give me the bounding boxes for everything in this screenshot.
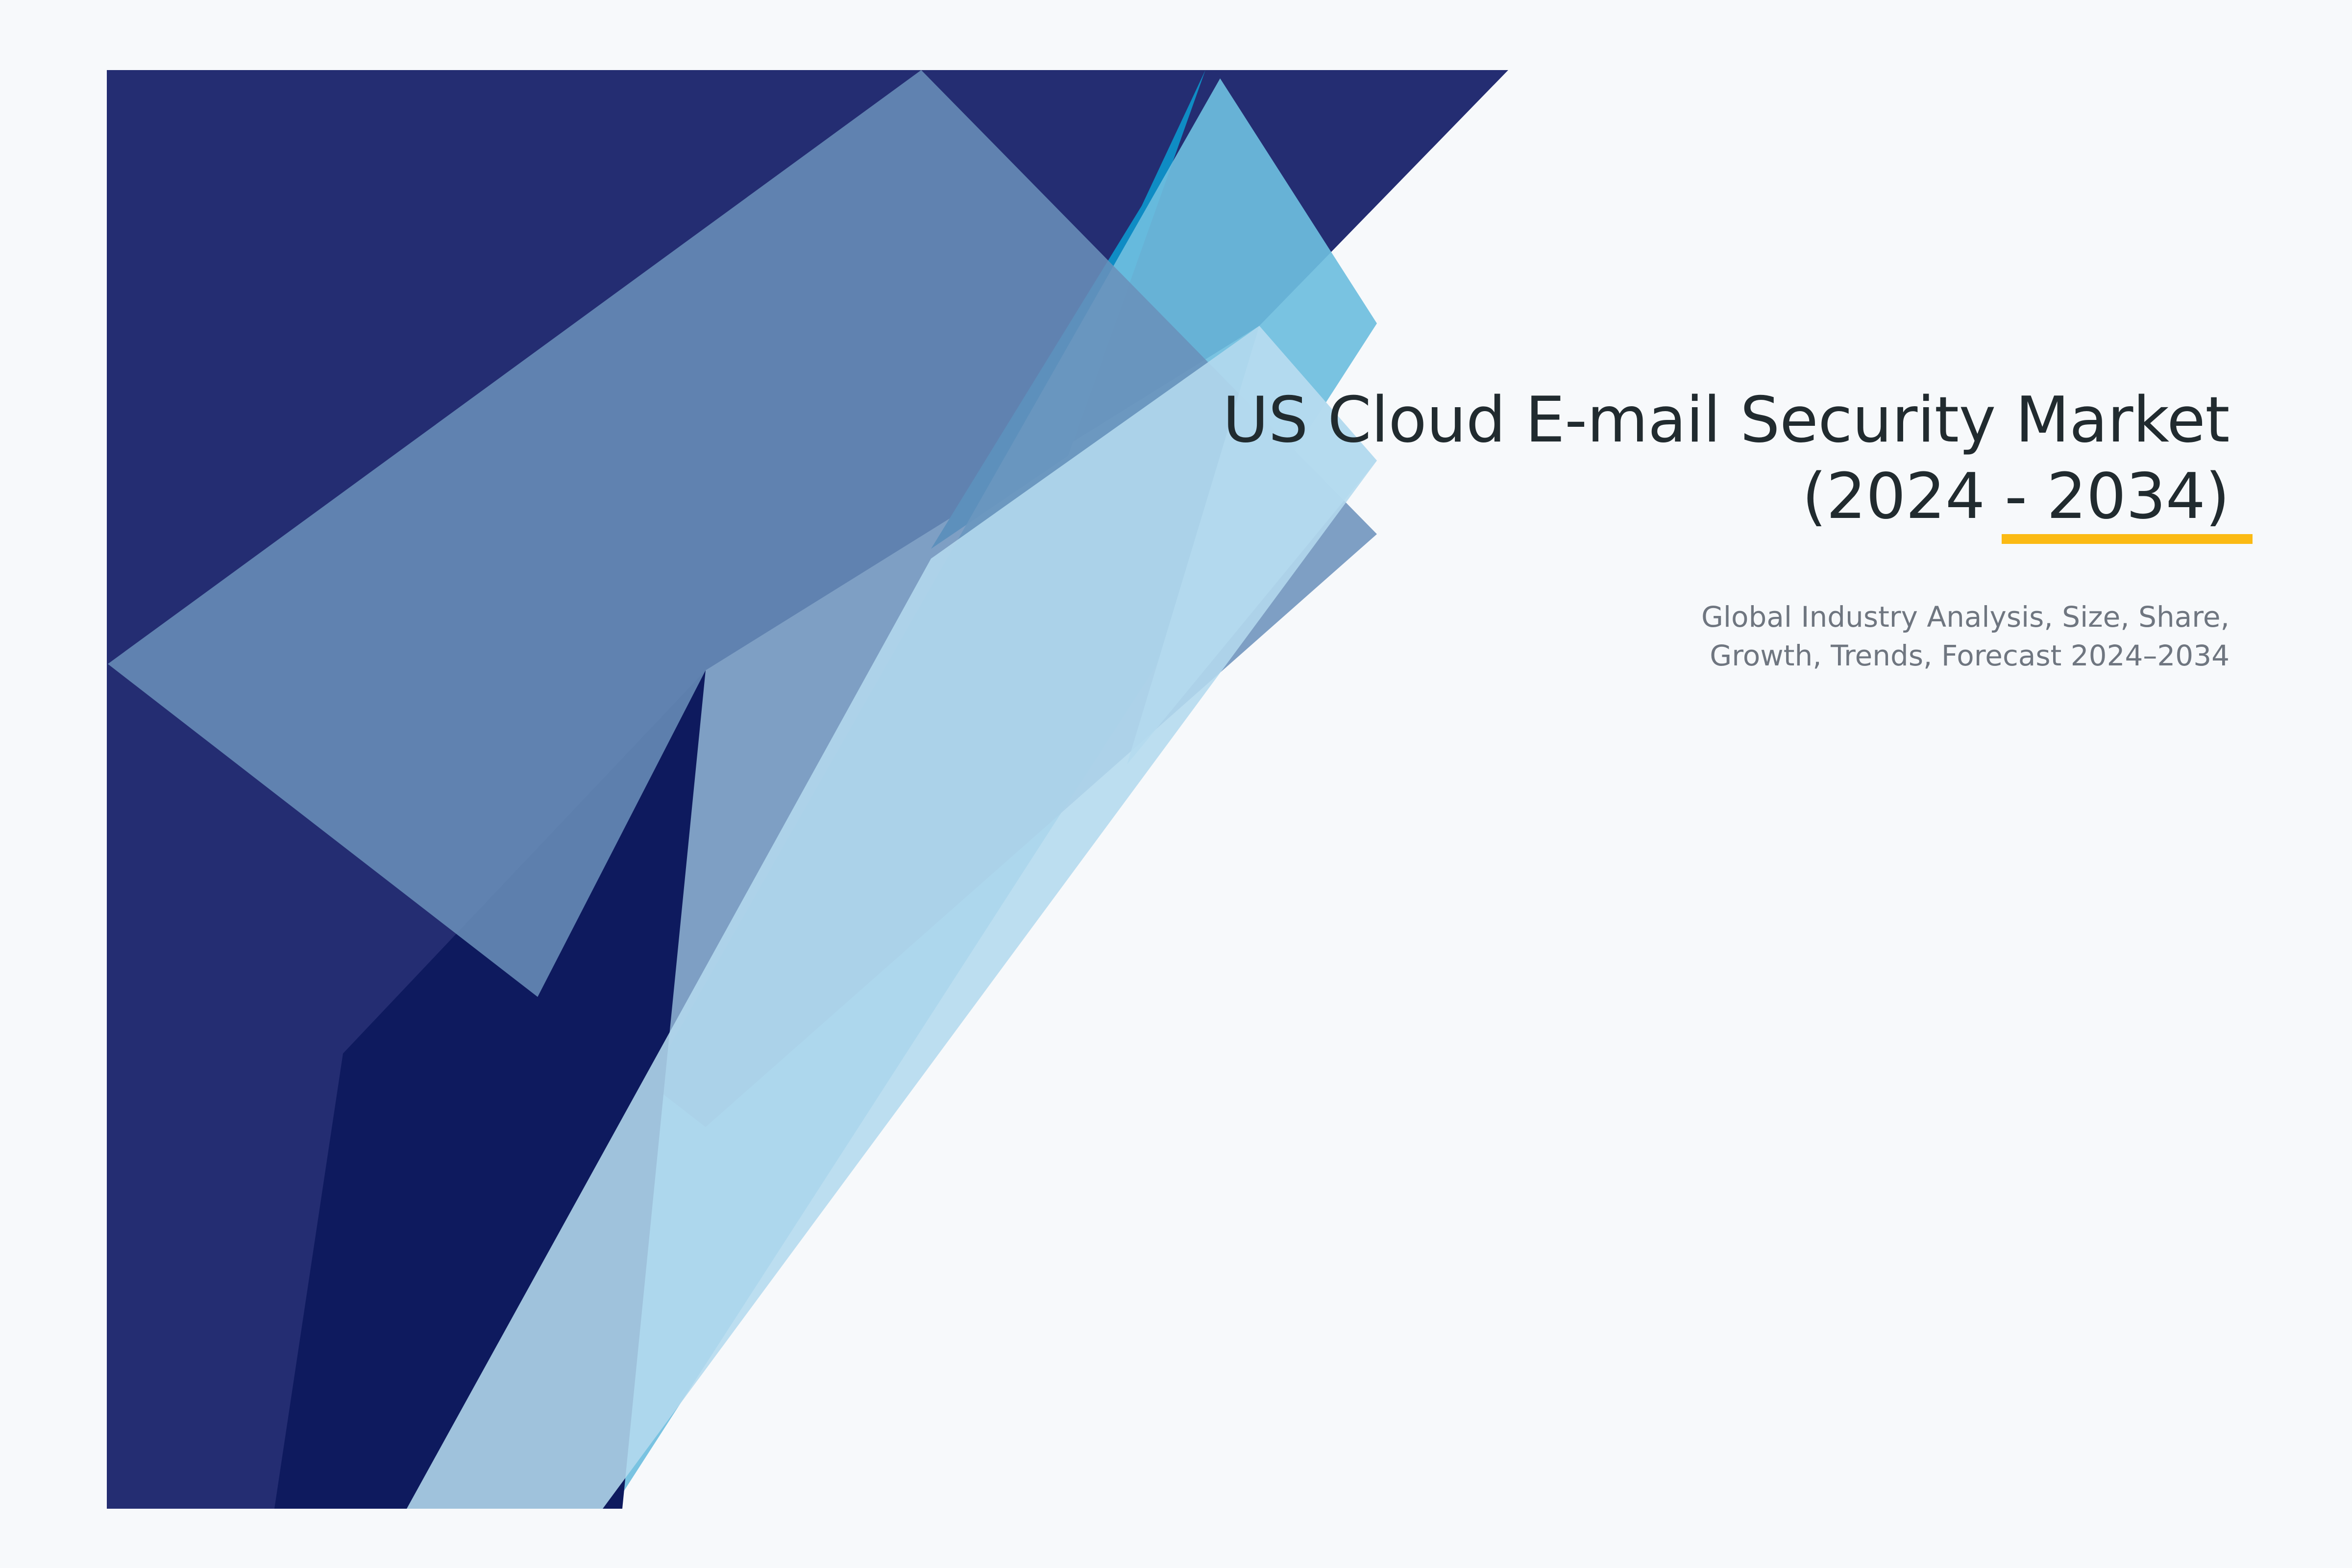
abstract-geometric-artwork [0,0,2352,1568]
accent-underline [2002,534,2253,544]
page-subtitle: Global Industry Analysis, Size, Share, G… [1019,535,2229,675]
cover-text-block: US Cloud E-mail Security Market (2024 - … [1019,382,2229,675]
report-cover: US Cloud E-mail Security Market (2024 - … [0,0,2352,1568]
page-title: US Cloud E-mail Security Market (2024 - … [1019,382,2229,535]
